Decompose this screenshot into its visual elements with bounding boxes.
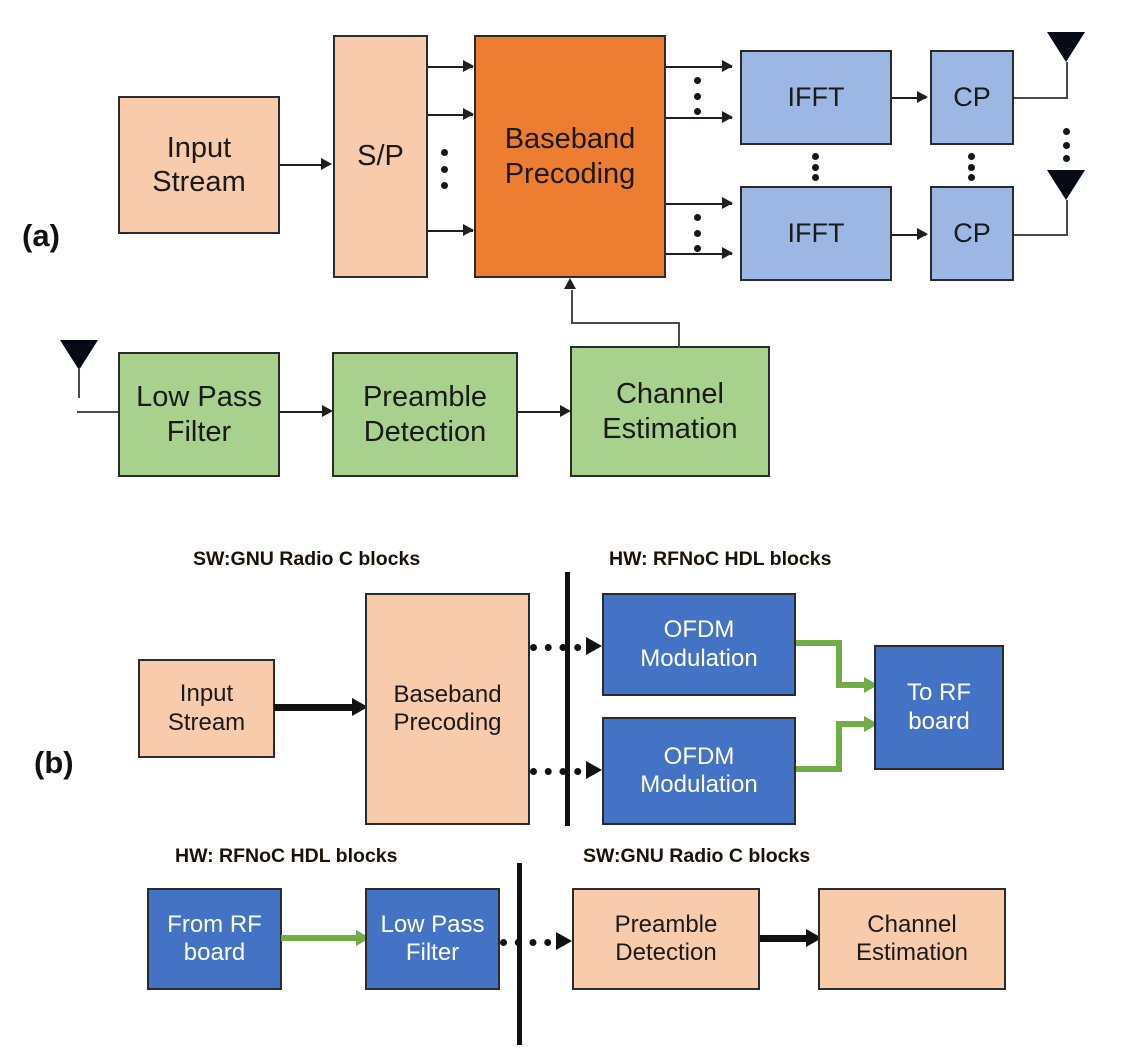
divider-tx-sw-hw	[565, 572, 570, 826]
arrowhead-baseband-to-ifft-bot-2	[722, 247, 733, 259]
antenna-triangle-icon	[1047, 32, 1085, 62]
block-ifft-bottom: IFFT	[740, 186, 892, 281]
arrowhead-ifft-top-to-cp-top	[917, 91, 928, 103]
arrowhead-sp-to-baseband-1	[463, 60, 474, 72]
connector-feedback-riser-right	[678, 322, 680, 348]
ellipsis-antennas	[1063, 128, 1070, 162]
ellipsis-baseband-to-ifft-bot	[694, 214, 701, 252]
connector-cp-top-to-antenna-riser	[1066, 62, 1068, 98]
antenna-triangle-icon	[60, 340, 98, 370]
antenna-stem	[78, 368, 80, 398]
section-label-tx-hw: HW: RFNoC HDL blocks	[609, 548, 831, 571]
panel-b-label: (b)	[34, 745, 74, 781]
arrowhead-baseband-to-ifft-bot-1	[722, 197, 733, 209]
antenna-rx	[60, 340, 98, 400]
arrowhead-ifft-bot-to-cp-bot	[917, 228, 928, 240]
ellipsis-ifft-rows	[812, 153, 819, 181]
block-from-rf-board: From RF board	[147, 888, 282, 990]
arrowhead-baseband-to-ofdm-bottom	[586, 761, 602, 779]
block-input-stream-b: Input Stream	[138, 659, 275, 758]
connector-antenna-to-lpf	[77, 411, 119, 413]
section-label-tx-sw: SW:GNU Radio C blocks	[193, 548, 420, 571]
block-preamble-detection-a: Preamble Detection	[332, 352, 518, 477]
divider-rx-hw-sw	[517, 863, 522, 1045]
arrowhead-input-to-sp	[321, 158, 332, 170]
panel-a-label: (a)	[22, 218, 60, 254]
block-preamble-detection-b: Preamble Detection	[572, 888, 760, 990]
arrowhead-sp-to-baseband-2	[463, 108, 474, 120]
block-channel-estimation-b: Channel Estimation	[818, 888, 1006, 990]
arrowhead-baseband-to-ifft-top-1	[722, 60, 733, 72]
connector-input-to-sp	[280, 164, 325, 166]
antenna-tx-bottom	[1047, 170, 1085, 202]
connector-cp-top-to-antenna	[1014, 97, 1068, 99]
block-ifft-top: IFFT	[740, 50, 892, 145]
block-input-stream-a: Input Stream	[118, 96, 280, 234]
connector-preamble-to-channel	[518, 411, 566, 413]
block-cp-top: CP	[930, 50, 1014, 145]
block-low-pass-filter-a: Low Pass Filter	[118, 352, 280, 477]
connector-ofdm-top-to-rf-v	[836, 640, 842, 688]
connector-cp-bot-to-antenna-riser	[1066, 200, 1068, 235]
ellipsis-baseband-to-ifft-top	[694, 77, 701, 115]
block-baseband-precoding-b: Baseband Precoding	[365, 593, 530, 825]
arrowhead-lpf-to-preamble-b	[556, 932, 572, 950]
connector-lpf-to-preamble	[280, 411, 328, 413]
arrowhead-sp-to-baseband-3	[463, 224, 474, 236]
antenna-tx-top	[1047, 32, 1085, 64]
block-ofdm-modulation-bottom: OFDM Modulation	[602, 717, 796, 825]
block-ofdm-modulation-top: OFDM Modulation	[602, 593, 796, 696]
arrowhead-feedback-to-baseband	[564, 278, 576, 289]
connector-preamble-to-channel-b	[760, 935, 812, 942]
ellipsis-sp-outputs	[441, 149, 448, 189]
figure-canvas: (a) Input Stream S/P Baseband Precoding …	[0, 0, 1128, 1048]
connector-feedback-horizontal	[571, 322, 680, 324]
block-cp-bottom: CP	[930, 186, 1014, 281]
block-to-rf-board: To RF board	[874, 645, 1004, 770]
ellipsis-cp-rows	[968, 153, 975, 181]
block-channel-estimation-a: Channel Estimation	[570, 346, 770, 477]
connector-input-to-baseband-b	[274, 704, 358, 711]
block-sp: S/P	[333, 35, 428, 278]
block-baseband-precoding-a: Baseband Precoding	[474, 35, 666, 278]
arrowhead-baseband-to-ofdm-top	[586, 637, 602, 655]
connector-cp-bot-to-antenna	[1014, 234, 1068, 236]
connector-from-rf-to-lpf	[281, 935, 362, 941]
antenna-triangle-icon	[1047, 170, 1085, 200]
connector-ofdm-bot-to-rf-v	[836, 721, 842, 772]
block-low-pass-filter-b: Low Pass Filter	[365, 888, 500, 990]
connector-feedback-riser-left	[571, 290, 573, 324]
section-label-rx-hw: HW: RFNoC HDL blocks	[175, 845, 397, 868]
section-label-rx-sw: SW:GNU Radio C blocks	[583, 845, 810, 868]
arrowhead-baseband-to-ifft-top-2	[722, 111, 733, 123]
